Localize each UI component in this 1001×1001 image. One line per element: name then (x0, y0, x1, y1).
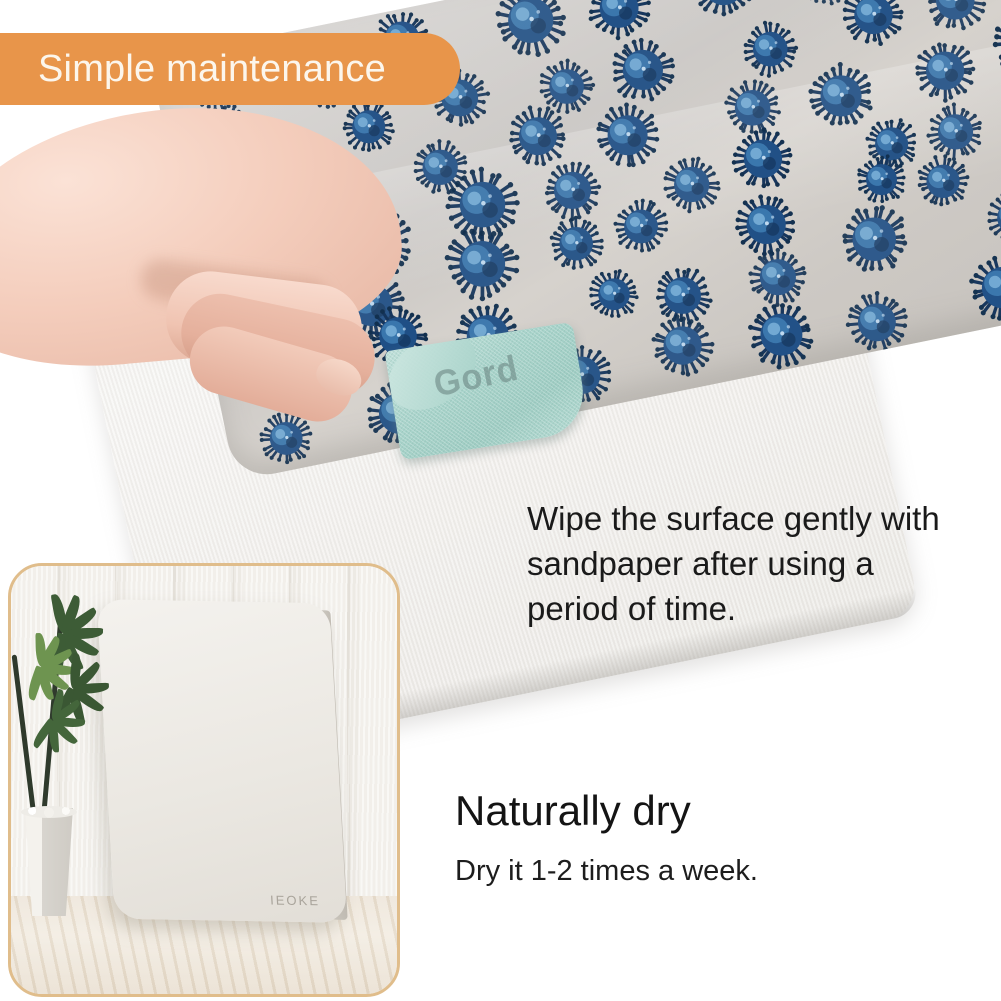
germ-particle (986, 189, 1001, 247)
inset-photo-frame: IEOKE (8, 563, 400, 997)
header-banner: Simple maintenance (0, 33, 460, 105)
germ-particle (748, 247, 807, 306)
germ-particle (542, 160, 603, 221)
germ-particle (506, 105, 569, 168)
germ-particle (856, 154, 907, 205)
germ-particle (494, 0, 569, 57)
germ-particle (588, 268, 640, 320)
germ-particle (587, 0, 651, 40)
germ-particle (747, 300, 816, 369)
germ-particle (614, 199, 670, 255)
germ-particle (916, 154, 971, 209)
germ-particle (968, 253, 1001, 321)
germ-particle (732, 127, 795, 190)
germ-particle (594, 102, 660, 168)
germ-particle (838, 203, 910, 275)
inset-mat-front: IEOKE (97, 599, 347, 923)
infographic-canvas: Gord Simple maintenance Wipe the surface… (0, 0, 1001, 1001)
naturally-dry-heading: Naturally dry (455, 787, 691, 835)
germ-particle (662, 155, 720, 213)
germ-particle (914, 39, 977, 102)
naturally-dry-subtext: Dry it 1-2 times a week. (455, 855, 758, 888)
wipe-instruction-text: Wipe the surface gently with sandpaper a… (527, 497, 947, 632)
germ-particle (841, 0, 904, 47)
germ-particle (927, 102, 985, 160)
germ-particle (846, 291, 909, 354)
germ-particle (691, 0, 757, 19)
brand-label: IEOKE (270, 893, 321, 909)
vase-pebbles (21, 806, 77, 818)
page-title: Simple maintenance (38, 48, 386, 91)
germ-particle (609, 37, 675, 103)
germ-particle (924, 0, 988, 32)
germ-particle (993, 6, 1001, 80)
germ-particle (549, 216, 604, 271)
germ-particle (651, 314, 714, 377)
germ-particle (734, 192, 799, 257)
germ-particle (742, 21, 799, 78)
germ-particle (807, 62, 875, 130)
